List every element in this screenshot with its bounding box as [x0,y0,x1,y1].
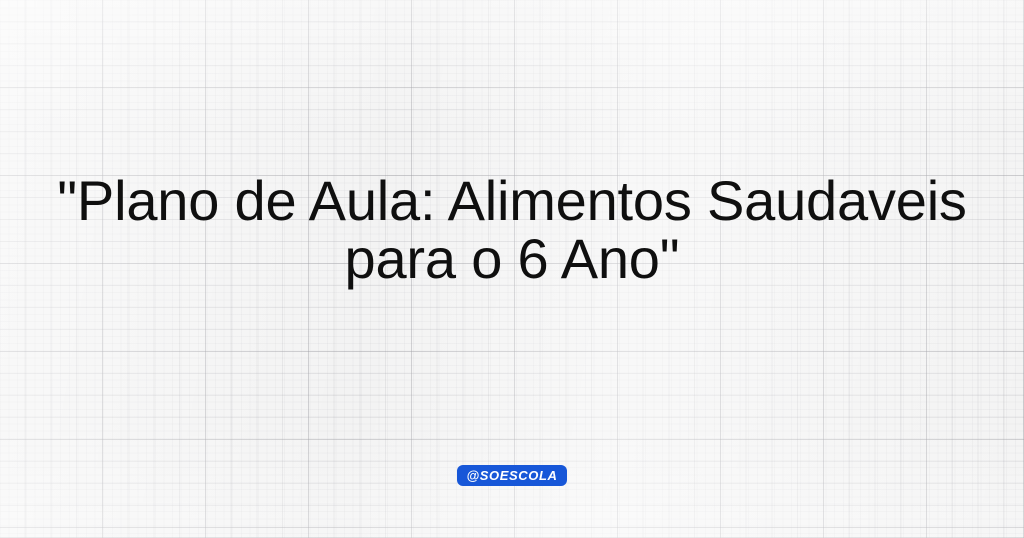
page-title-line-2: para o 6 Ano" [0,230,1024,288]
watermark-badge-soescola: @SOESCOLA [457,465,566,486]
page-title: "Plano de Aula: Alimentos Saudaveis para… [0,172,1024,288]
watermark-container: @SOESCOLA [0,465,1024,486]
page-title-line-1: "Plano de Aula: Alimentos Saudaveis [0,172,1024,230]
slide-canvas: "Plano de Aula: Alimentos Saudaveis para… [0,0,1024,538]
